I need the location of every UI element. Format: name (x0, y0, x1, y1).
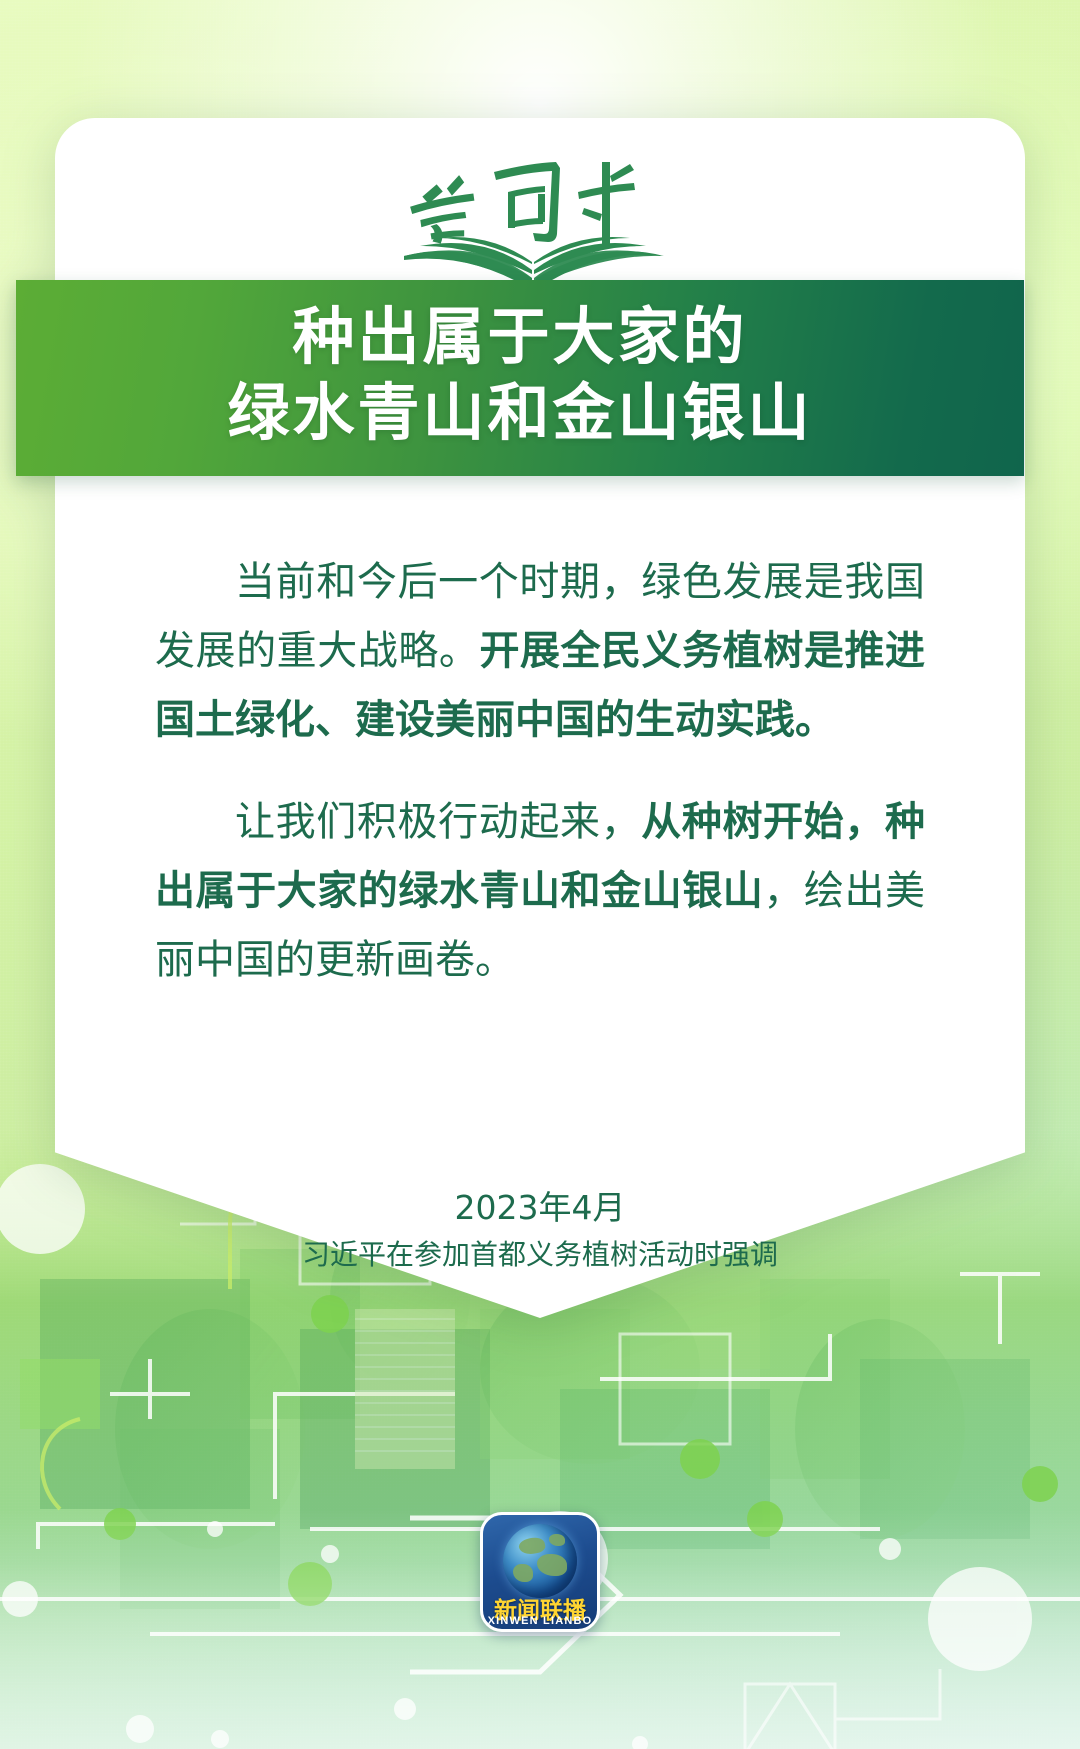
earth-globe-icon (503, 1524, 577, 1598)
quote-text: 让我们积极行动起来， (235, 799, 641, 845)
study-card: 种出属于大家的 绿水青山和金山银山 当前和今后一个时期，绿色发展是我国发展的重大… (55, 118, 1025, 1318)
quote-paragraph: 当前和今后一个时期，绿色发展是我国发展的重大战略。开展全民义务植树是推进国土绿化… (155, 548, 925, 754)
attribution-date: 2023年4月 (55, 1186, 1025, 1231)
title-line-1: 种出属于大家的 (292, 299, 747, 375)
title-banner: 种出属于大家的 绿水青山和金山银山 (16, 280, 1024, 476)
attribution: 2023年4月 习近平在参加首都义务植树活动时强调 (55, 1186, 1025, 1275)
badge-title-en: XINWEN LIANBO (483, 1615, 597, 1627)
badge-surface: 新闻联播 XINWEN LIANBO (480, 1512, 600, 1632)
quote-body: 当前和今后一个时期，绿色发展是我国发展的重大战略。开展全民义务植树是推进国土绿化… (155, 548, 925, 995)
xuexika-logo (55, 148, 1025, 288)
attribution-source: 习近平在参加首都义务植树活动时强调 (55, 1235, 1025, 1276)
quote-paragraph: 让我们积极行动起来，从种树开始，种出属于大家的绿水青山和金山银山，绘出美丽中国的… (155, 788, 925, 994)
title-line-2: 绿水青山和金山银山 (227, 375, 812, 451)
xinwen-lianbo-badge[interactable]: 新闻联播 XINWEN LIANBO (480, 1512, 600, 1632)
open-book-icon (390, 148, 690, 288)
